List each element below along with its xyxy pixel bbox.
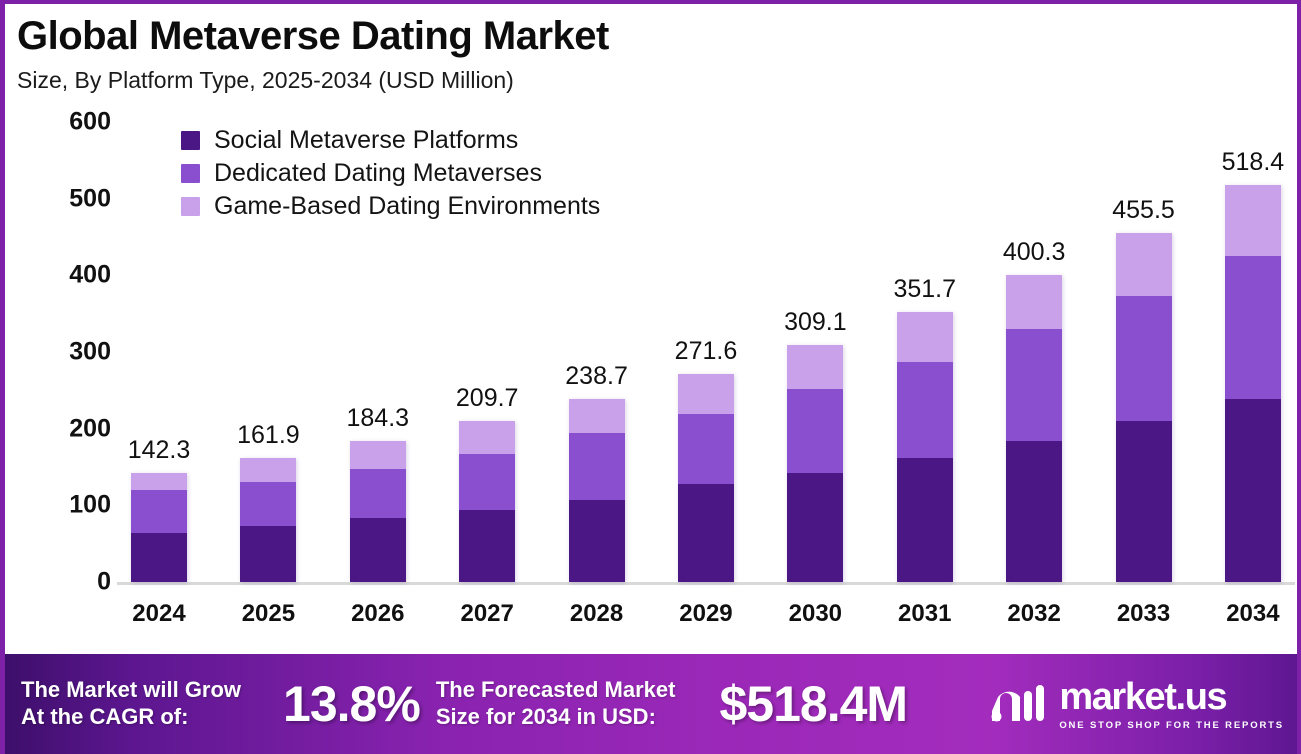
- footer-banner: The Market will Grow At the CAGR of: 13.…: [5, 654, 1301, 754]
- x-axis: 2024202520262027202820292030203120322033…: [117, 600, 1295, 628]
- bar-segment: [787, 473, 843, 582]
- bar-column[interactable]: 142.3: [131, 122, 187, 582]
- bar-stack: [1006, 275, 1062, 582]
- bar-segment: [569, 399, 625, 433]
- x-axis-tick: 2028: [569, 600, 625, 628]
- bar-stack: [131, 473, 187, 582]
- x-axis-tick: 2027: [459, 600, 515, 628]
- bar-stack: [240, 458, 296, 582]
- bar-value-label: 271.6: [675, 337, 738, 366]
- y-axis-tick: 400: [27, 261, 111, 290]
- x-axis-tick: 2025: [240, 600, 296, 628]
- cagr-value: 13.8%: [283, 675, 420, 733]
- bar-value-label: 351.7: [893, 275, 956, 304]
- brand-name: market.us: [1059, 678, 1284, 716]
- cagr-caption: The Market will Grow At the CAGR of:: [21, 677, 241, 731]
- bar-segment: [897, 458, 953, 582]
- bar-segment: [1006, 441, 1062, 582]
- bar-value-label: 209.7: [456, 384, 519, 413]
- cagr-caption-line1: The Market will Grow: [21, 677, 241, 704]
- y-axis-tick: 0: [27, 568, 111, 597]
- bar-segment: [678, 374, 734, 414]
- bar-column[interactable]: 271.6: [678, 122, 734, 582]
- x-axis-tick: 2029: [678, 600, 734, 628]
- bar-value-label: 184.3: [347, 404, 410, 433]
- bar-stack: [459, 421, 515, 582]
- bar-segment: [459, 510, 515, 582]
- bar-segment: [897, 362, 953, 458]
- bar-segment: [1225, 256, 1281, 399]
- bar-segment: [459, 421, 515, 454]
- bar-segment: [131, 490, 187, 533]
- bar-stack: [1116, 233, 1172, 582]
- bar-segment: [678, 484, 734, 582]
- bar-stack: [678, 374, 734, 582]
- cagr-caption-line2: At the CAGR of:: [21, 704, 241, 731]
- legend-label: Dedicated Dating Metaverses: [214, 161, 542, 186]
- bar-segment: [1116, 233, 1172, 296]
- brand-tagline: ONE STOP SHOP FOR THE REPORTS: [1059, 721, 1284, 731]
- bar-column[interactable]: 400.3: [1006, 122, 1062, 582]
- bar-value-label: 518.4: [1222, 148, 1285, 177]
- legend-item-1[interactable]: Dedicated Dating Metaverses: [181, 161, 600, 186]
- bar-value-label: 309.1: [784, 308, 847, 337]
- bar-segment: [897, 312, 953, 362]
- bar-stack: [897, 312, 953, 582]
- y-axis-tick: 600: [27, 108, 111, 137]
- y-axis-tick: 200: [27, 414, 111, 443]
- bar-segment: [1006, 275, 1062, 329]
- x-axis-tick: 2030: [787, 600, 843, 628]
- bar-segment: [569, 433, 625, 500]
- bar-segment: [1225, 399, 1281, 582]
- legend-label: Game-Based Dating Environments: [214, 194, 600, 219]
- bar-segment: [240, 526, 296, 582]
- bar-segment: [787, 389, 843, 473]
- header: Global Metaverse Dating Market Size, By …: [17, 14, 1017, 94]
- y-axis-tick: 100: [27, 491, 111, 520]
- legend-item-2[interactable]: Game-Based Dating Environments: [181, 194, 600, 219]
- x-axis-tick: 2031: [897, 600, 953, 628]
- page-subtitle: Size, By Platform Type, 2025-2034 (USD M…: [17, 67, 1017, 94]
- legend-swatch-icon: [181, 164, 200, 183]
- bar-segment: [240, 458, 296, 482]
- bar-stack: [350, 441, 406, 582]
- x-axis-tick: 2024: [131, 600, 187, 628]
- market-us-logo-icon: [990, 681, 1046, 727]
- bar-segment: [350, 518, 406, 582]
- y-axis-tick: 300: [27, 338, 111, 367]
- brand-logo[interactable]: market.us ONE STOP SHOP FOR THE REPORTS: [990, 678, 1301, 731]
- bar-segment: [350, 441, 406, 469]
- legend-swatch-icon: [181, 197, 200, 216]
- bar-stack: [569, 399, 625, 582]
- forecast-caption-line2: Size for 2034 in USD:: [436, 704, 676, 731]
- bar-column[interactable]: 455.5: [1116, 122, 1172, 582]
- bar-segment: [459, 454, 515, 509]
- bar-stack: [1225, 185, 1281, 582]
- bar-segment: [240, 482, 296, 526]
- bar-segment: [350, 469, 406, 518]
- x-axis-tick: 2033: [1116, 600, 1172, 628]
- bar-segment: [569, 500, 625, 582]
- bar-segment: [1225, 185, 1281, 256]
- x-axis-baseline: [117, 582, 1295, 585]
- chart-legend: Social Metaverse PlatformsDedicated Dati…: [181, 128, 600, 219]
- bar-value-label: 455.5: [1112, 196, 1175, 225]
- bar-segment: [1006, 329, 1062, 441]
- x-axis-tick: 2032: [1006, 600, 1062, 628]
- bar-value-label: 400.3: [1003, 238, 1066, 267]
- bar-column[interactable]: 351.7: [897, 122, 953, 582]
- x-axis-tick: 2026: [350, 600, 406, 628]
- bar-segment: [1116, 421, 1172, 582]
- legend-label: Social Metaverse Platforms: [214, 128, 518, 153]
- bar-segment: [131, 533, 187, 582]
- legend-item-0[interactable]: Social Metaverse Platforms: [181, 128, 600, 153]
- bar-segment: [131, 473, 187, 490]
- bar-segment: [787, 345, 843, 389]
- bar-column[interactable]: 309.1: [787, 122, 843, 582]
- bar-value-label: 238.7: [565, 362, 628, 391]
- legend-swatch-icon: [181, 131, 200, 150]
- cagr-block: The Market will Grow At the CAGR of: 13.…: [5, 654, 420, 754]
- bar-value-label: 161.9: [237, 421, 300, 450]
- x-axis-tick: 2034: [1225, 600, 1281, 628]
- forecast-block: The Forecasted Market Size for 2034 in U…: [436, 675, 907, 733]
- bar-value-label: 142.3: [128, 436, 191, 465]
- y-axis-tick: 500: [27, 184, 111, 213]
- infographic-root: Global Metaverse Dating Market Size, By …: [0, 0, 1301, 754]
- forecast-caption: The Forecasted Market Size for 2034 in U…: [436, 677, 676, 731]
- bar-stack: [787, 345, 843, 582]
- bar-segment: [1116, 296, 1172, 421]
- bar-segment: [678, 414, 734, 484]
- page-title: Global Metaverse Dating Market: [17, 14, 1017, 59]
- brand-text: market.us ONE STOP SHOP FOR THE REPORTS: [1059, 678, 1284, 731]
- y-axis: 0100200300400500600: [27, 122, 111, 582]
- forecast-value: $518.4M: [719, 675, 907, 733]
- bar-column[interactable]: 518.4: [1225, 122, 1281, 582]
- forecast-caption-line1: The Forecasted Market: [436, 677, 676, 704]
